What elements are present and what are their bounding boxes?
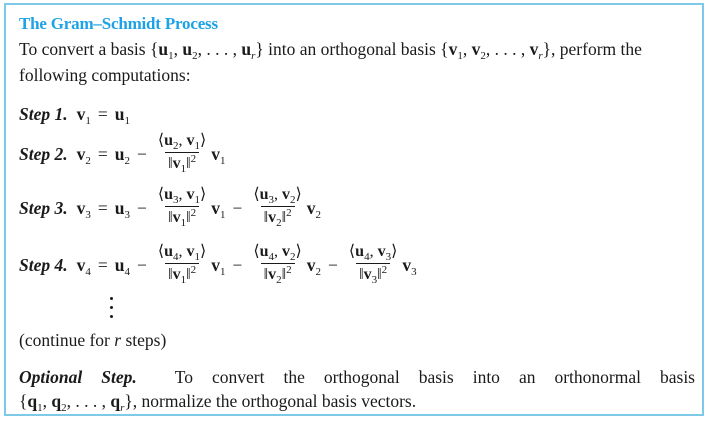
- step-3-numerator-1: ⟨u3, v1⟩: [155, 186, 209, 206]
- vector-v2: v2: [472, 39, 486, 59]
- step-4-fraction-1: ⟨u4, v1⟩ ‖v1‖2: [155, 243, 209, 286]
- vertical-ellipsis-icon: [110, 297, 113, 324]
- step-1-rhs: u1: [115, 104, 130, 125]
- intro-text-a: To convert a basis {: [19, 39, 158, 59]
- step-4-numerator-3: ⟨u4, v3⟩: [346, 243, 400, 263]
- gram-schmidt-callout-box: The Gram–Schmidt Process To convert a ba…: [4, 3, 704, 416]
- optional-tail: }, normalize the orthogonal basis vector…: [124, 391, 416, 411]
- vector-vr: vr: [530, 39, 543, 59]
- step-2-lhs: v2: [77, 144, 91, 165]
- step-4-minus-3: −: [328, 255, 338, 276]
- step-4-row: Step 4. v4 = u4 − ⟨u4, v1⟩ ‖v1‖2 v1 − ⟨u…: [19, 244, 417, 287]
- step-3-denominator-1: ‖v1‖2: [165, 206, 199, 229]
- step-3-rhs: u3: [115, 198, 130, 219]
- page-title: The Gram–Schmidt Process: [19, 14, 218, 34]
- step-3-fraction-2: ⟨u3, v2⟩ ‖v2‖2: [250, 186, 304, 229]
- step-2-rhs: u2: [115, 144, 130, 165]
- step-4-fraction-3: ⟨u4, v3⟩ ‖v3‖2: [346, 243, 400, 286]
- step-3-minus-2: −: [233, 198, 243, 219]
- step-4-denominator-3: ‖v3‖2: [356, 263, 390, 286]
- step-3-row: Step 3. v3 = u3 − ⟨u3, v1⟩ ‖v1‖2 v1 − ⟨u…: [19, 187, 321, 230]
- intro-sep-4: , . . . ,: [486, 39, 530, 59]
- step-3-equals: =: [98, 198, 108, 219]
- step-3-multiplier-2: v2: [307, 198, 321, 219]
- step-2-equation: v2 = u2 − ⟨u2, v1⟩ ‖v1‖2 v1: [77, 133, 226, 176]
- step-3-numerator-2: ⟨u3, v2⟩: [250, 186, 304, 206]
- step-2-equals: =: [98, 144, 108, 165]
- continue-after: steps): [121, 330, 166, 350]
- step-2-label: Step 2.: [19, 144, 68, 165]
- step-4-multiplier-1: v1: [211, 255, 225, 276]
- step-4-minus-1: −: [137, 255, 147, 276]
- step-3-fraction-1: ⟨u3, v1⟩ ‖v1‖2: [155, 186, 209, 229]
- vector-v1: v1: [449, 39, 463, 59]
- step-4-minus-2: −: [233, 255, 243, 276]
- optional-sep-2: , . . . ,: [67, 391, 111, 411]
- step-1-equation: v1 = u1: [77, 104, 130, 125]
- step-4-fraction-2: ⟨u4, v2⟩ ‖v2‖2: [250, 243, 304, 286]
- step-4-equals: =: [98, 255, 108, 276]
- step-4-numerator-1: ⟨u4, v1⟩: [155, 243, 209, 263]
- vector-u1: u1: [158, 39, 173, 59]
- step-4-equation: v4 = u4 − ⟨u4, v1⟩ ‖v1‖2 v1 − ⟨u4, v2⟩ ‖…: [77, 244, 417, 287]
- vector-qr: qr: [110, 391, 124, 411]
- optional-step-text: To convert the orthogonal basis into an …: [175, 367, 695, 387]
- step-2-numerator-1: ⟨u2, v1⟩: [155, 132, 209, 152]
- step-3-denominator-2: ‖v2‖2: [261, 206, 295, 229]
- intro-paragraph: To convert a basis {u1, u2, . . . , ur} …: [19, 38, 695, 87]
- step-4-numerator-2: ⟨u4, v2⟩: [250, 243, 304, 263]
- step-1-lhs: v1: [77, 104, 91, 125]
- step-4-rhs: u4: [115, 255, 130, 276]
- continue-before: (continue for: [19, 330, 114, 350]
- intro-sep-2: , . . . ,: [198, 39, 242, 59]
- step-2-minus-1: −: [137, 144, 147, 165]
- vector-ur: ur: [241, 39, 255, 59]
- step-4-lhs: v4: [77, 255, 91, 276]
- step-3-label: Step 3.: [19, 198, 68, 219]
- step-1-row: Step 1. v1 = u1: [19, 104, 130, 125]
- step-4-multiplier-3: v3: [402, 255, 416, 276]
- step-1-label: Step 1.: [19, 104, 68, 125]
- step-4-multiplier-2: v2: [307, 255, 321, 276]
- optional-step-line-2: {q1, q2, . . . , qr}, normalize the orth…: [19, 389, 695, 416]
- continue-note: (continue for r steps): [19, 330, 166, 351]
- step-2-denominator-1: ‖v1‖2: [165, 152, 199, 175]
- step-3-multiplier-1: v1: [211, 198, 225, 219]
- intro-sep-3: ,: [463, 39, 472, 59]
- step-2-row: Step 2. v2 = u2 − ⟨u2, v1⟩ ‖v1‖2 v1: [19, 133, 226, 176]
- optional-step-label: Optional Step.: [19, 367, 137, 387]
- step-2-fraction-1: ⟨u2, v1⟩ ‖v1‖2: [155, 132, 209, 175]
- step-4-denominator-1: ‖v1‖2: [165, 263, 199, 286]
- step-3-lhs: v3: [77, 198, 91, 219]
- step-3-minus-1: −: [137, 198, 147, 219]
- intro-text-mid: } into an orthogonal basis {: [255, 39, 448, 59]
- step-4-denominator-2: ‖v2‖2: [261, 263, 295, 286]
- step-4-label: Step 4.: [19, 255, 68, 276]
- vector-u2: u2: [182, 39, 197, 59]
- vector-q1: q1: [27, 391, 42, 411]
- step-1-equals: =: [98, 104, 108, 125]
- step-3-equation: v3 = u3 − ⟨u3, v1⟩ ‖v1‖2 v1 − ⟨u3, v2⟩ ‖…: [77, 187, 321, 230]
- vector-q2: q2: [51, 391, 66, 411]
- step-2-multiplier-1: v1: [211, 144, 225, 165]
